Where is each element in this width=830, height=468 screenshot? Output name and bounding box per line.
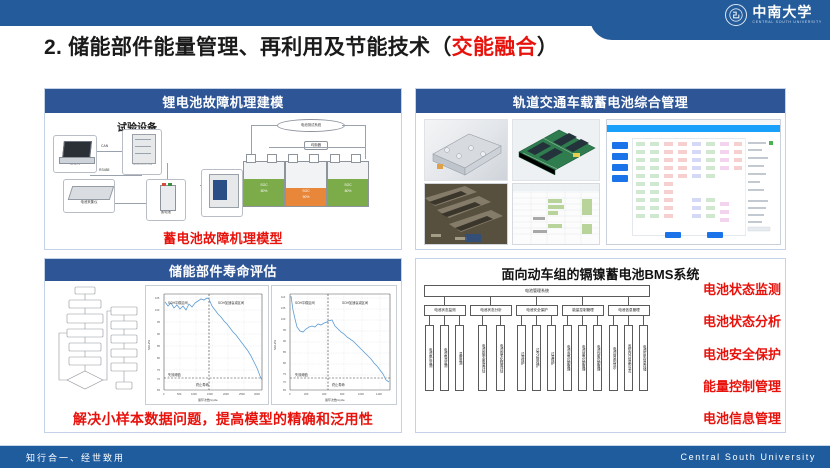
cell-status-grid [632, 138, 746, 236]
svg-text:SOH平稳区间: SOH平稳区间 [168, 300, 188, 305]
data-acquisition-label: 电池采集仪 [81, 201, 98, 205]
bms-leaf-2-2: 过温保护 [547, 325, 556, 391]
svg-text:200: 200 [304, 392, 309, 396]
bms-branch-2: 电池安全保护 [516, 305, 558, 316]
slide-title: 2. 储能部件能量管理、再利用及节能技术（交能融合） [44, 31, 558, 61]
tree-leafline-4-1 [628, 316, 629, 325]
footer-university-name: Central South University [681, 452, 816, 462]
bms-leaf-3-2-label: 电池均衡控制管理 [596, 345, 599, 371]
svg-text:失效阈值: 失效阈值 [295, 372, 309, 377]
panel-bl-title: 储能部件寿命评估 [45, 259, 401, 281]
bms-feature-1: 电池状态分析 [661, 315, 781, 328]
svg-text:SOH加速衰减区间: SOH加速衰减区间 [218, 300, 244, 305]
soh-chart-1: SOH平稳区间 SOH加速衰减区间 失效阈值 终止寿命 10510095 908… [145, 285, 269, 405]
university-name-cn: 中南大学 [752, 5, 822, 19]
soc-wire-left-top [251, 125, 278, 126]
slide-title-tail: ） [537, 36, 558, 59]
app-nav-button-0[interactable] [612, 142, 628, 149]
soc-system-label: 电池测试系统 [301, 124, 321, 128]
app-nav-button-3[interactable] [612, 175, 628, 182]
tester-shelf-1 [135, 139, 151, 140]
tree-leafline-3-1 [582, 316, 583, 325]
bms-leaf-4-1-label: 系统内外信息的交互 [627, 344, 630, 373]
soc-cell-2: SOC 50% [285, 161, 327, 207]
slide-title-highlight: 交能融合 [452, 36, 537, 59]
soc-cell-1-terminal-b [267, 154, 277, 163]
panel-tl-body: 试验设备 上位机 电池测试系统 电池采集仪 [45, 113, 401, 249]
tree-leafline-3-0 [567, 316, 568, 325]
bms-leaf-2-2-label: 过温保护 [550, 352, 553, 365]
page-header: 中南大学 CENTRAL SOUTH UNIVERSITY [0, 0, 830, 34]
app-cancel-button[interactable] [707, 232, 723, 238]
soc-wire-bus [269, 147, 365, 148]
slide-title-main: 2. 储能部件能量管理、再利用及节能技术（ [44, 36, 452, 59]
bms-leaf-4-0: 电池信息的显示 [609, 325, 618, 391]
bms-leaf-3-0-label: 电池充电控制管理 [566, 345, 569, 371]
university-name-en: CENTRAL SOUTH UNIVERSITY [752, 21, 822, 25]
svg-text:600: 600 [340, 392, 345, 396]
university-emblem-icon [725, 4, 747, 26]
app-window-ribbon [607, 125, 780, 132]
bms-branch-2-label: 电池安全保护 [526, 309, 548, 313]
bms-leaf-4-2: 电池历史信息存储 [639, 325, 648, 391]
tree-connector-3 [582, 297, 583, 305]
app-nav-button-1[interactable] [612, 153, 628, 160]
bms-leaf-2-1-label: 过充过放保护 [535, 348, 538, 367]
svg-text:100: 100 [281, 317, 286, 321]
footer-motto: 知行合一、经世致用 [26, 451, 125, 464]
tester-shelf-3 [135, 153, 151, 154]
bms-tree-root: 电池管理系统 [424, 285, 650, 297]
bms-leaf-1-1: 电池的老化程度评估 [496, 325, 505, 391]
bms-leaf-4-0-label: 电池信息的显示 [612, 347, 615, 369]
svg-text:终止寿命: 终止寿命 [332, 382, 346, 387]
panel-tl-caption: 蓄电池故障机理模型 [45, 228, 401, 247]
soc-cell-1: SOC 80% [243, 161, 285, 207]
tree-leafline-4-2 [643, 316, 644, 325]
bms-branch-0-label: 电池状态监测 [434, 309, 456, 313]
tree-connector-0 [444, 297, 445, 305]
svg-text:SOH平稳区间: SOH平稳区间 [295, 300, 315, 305]
university-logo-text: 中南大学 CENTRAL SOUTH UNIVERSITY [752, 5, 822, 25]
battery-terminal-negative-icon [168, 183, 172, 186]
battery-box-cad-image [424, 119, 508, 181]
panel-tl-title: 锂电池故障机理建模 [45, 89, 401, 113]
bms-tree-root-label: 电池管理系统 [525, 289, 549, 293]
svg-text:SOH/%: SOH/% [147, 340, 151, 350]
soc-cell-3-terminal-b [351, 154, 361, 163]
bms-leaf-0-2: 温度监测 [455, 325, 464, 391]
svg-text:循环次数/cycle: 循环次数/cycle [325, 397, 345, 402]
panel-bl-body: SOH平稳区间 SOH加速衰减区间 失效阈值 终止寿命 10510095 908… [45, 281, 401, 432]
svg-text:2500: 2500 [239, 392, 245, 396]
svg-text:终止寿命: 终止寿命 [196, 382, 210, 387]
bms-leaf-4-1: 系统内外信息的交互 [624, 325, 633, 391]
soc-system-oval: 电池测试系统 [277, 119, 345, 132]
bms-feature-3: 能量控制管理 [661, 380, 781, 393]
soh-chart-2: SOH平稳区间 SOH加速衰减区间 失效阈值 终止寿命 110105100 95… [271, 285, 397, 405]
svg-text:2000: 2000 [223, 392, 229, 396]
bms-leaf-2-1: 过充过放保护 [532, 325, 541, 391]
soc-cell-1-terminal-a [246, 154, 256, 163]
bus-label-rs485: RS485 [99, 169, 109, 173]
thermal-chamber-node: 可编程恒温箱 [201, 169, 243, 217]
bms-leaf-3-1: 电池放电控制管理 [578, 325, 587, 391]
data-acquisition-node: 电池采集仪 [63, 179, 115, 213]
svg-text:失效阈值: 失效阈值 [168, 372, 182, 377]
bms-feature-2: 电池安全保护 [661, 348, 781, 361]
bms-leaf-3-0: 电池充电控制管理 [563, 325, 572, 391]
tree-leafline-0-1 [444, 316, 445, 325]
soc-cell-1-value: 80% [244, 190, 284, 194]
soc-cell-2-value: 50% [286, 196, 326, 200]
tree-leafline-3-2 [597, 316, 598, 325]
app-nav-button-2[interactable] [612, 164, 628, 171]
bus-label-can: CAN [101, 145, 108, 149]
bms-branch-4: 电池信息管理 [608, 305, 650, 316]
tree-connector-4 [628, 297, 629, 305]
bms-leaf-0-2-label: 温度监测 [458, 352, 461, 365]
tree-connector-1 [490, 297, 491, 305]
soc-cell-1-label: SOC [244, 184, 284, 188]
chamber-window-icon [213, 180, 227, 200]
daq-device-icon [68, 186, 115, 200]
bms-leaf-3-1-label: 电池放电控制管理 [581, 345, 584, 371]
bms-leaf-1-0: 电池的剩余电量评估 [478, 325, 487, 391]
bms-leaf-2-0: 过流保护 [517, 325, 526, 391]
panel-bl-caption: 解决小样本数据问题，提高模型的精确和泛用性 [45, 409, 401, 429]
panel-tr-title: 轨道交通车载蓄电池综合管理 [416, 89, 785, 113]
svg-text:105: 105 [281, 306, 286, 310]
app-confirm-button[interactable] [665, 232, 681, 238]
soc-cell-2-label: SOC [286, 190, 326, 194]
soc-cell-3: SOC 80% [327, 161, 369, 207]
svg-text:100: 100 [155, 308, 160, 312]
bms-leaf-0-1-label: 电池电流监测 [443, 348, 446, 367]
bms-branch-1-label: 电池状态分析 [480, 309, 502, 313]
panel-tr-body [416, 113, 785, 249]
soc-cell-3-label: SOC [328, 184, 368, 188]
tree-leafline-2-2 [551, 316, 552, 325]
tree-leafline-1-0 [482, 316, 483, 325]
app-detail-pane [745, 138, 776, 234]
storage-battery-node: 蓄电池 [146, 179, 186, 221]
svg-text:1400: 1400 [376, 392, 382, 396]
battery-test-system-node: 电池测试系统 [122, 129, 162, 175]
tree-leafline-2-0 [521, 316, 522, 325]
battery-body-icon [160, 185, 176, 211]
tester-shelf-2 [135, 146, 151, 147]
svg-text:SOH/%: SOH/% [273, 340, 277, 350]
host-computer-node: 上位机 [53, 135, 97, 173]
soc-cell-2-terminal-b [309, 154, 319, 163]
tree-leafline-2-1 [536, 316, 537, 325]
bms-branch-3: 能量控制管理 [562, 305, 604, 316]
wire-pc-to-daq [90, 175, 142, 176]
svg-text:1000: 1000 [358, 392, 364, 396]
life-assessment-flowchart [53, 285, 141, 403]
bms-leaf-4-2-label: 电池历史信息存储 [642, 345, 645, 371]
bms-leaf-0-0-label: 电池电压监测 [428, 348, 431, 367]
panel-storage-life-assessment: 储能部件寿命评估 [44, 258, 402, 433]
bms-feature-list: 电池状态监测 电池状态分析 电池安全保护 能量控制管理 电池信息管理 [661, 283, 781, 425]
svg-text:SOH加速衰减区间: SOH加速衰减区间 [342, 300, 368, 305]
panel-bms-system: 面向动车组的镉镍蓄电池BMS系统 电池管理系统 电池状态监测 电池状态分析 电池… [415, 258, 786, 433]
tree-leafline-1-1 [500, 316, 501, 325]
soc-cell-3-value: 80% [328, 190, 368, 194]
bms-leaf-1-1-label: 电池的老化程度评估 [499, 344, 502, 373]
svg-text:110: 110 [281, 295, 286, 299]
panel-lithium-fault-modeling: 锂电池故障机理建模 试验设备 上位机 电池测试系统 电池采集仪 [44, 88, 402, 250]
battery-terminal-positive-icon [162, 183, 166, 186]
panel-rail-transit-battery-management: 轨道交通车载蓄电池综合管理 [415, 88, 786, 250]
test-data-sheet-image [512, 183, 600, 245]
panel-br-title: 面向动车组的镉镍蓄电池BMS系统 [416, 264, 785, 283]
tree-connector-2 [536, 297, 537, 305]
bms-leaf-0-1: 电池电流监测 [440, 325, 449, 391]
bms-branch-1: 电池状态分析 [470, 305, 512, 316]
svg-text:105: 105 [155, 296, 160, 300]
battery-rack-photo-image [424, 183, 508, 245]
soc-cell-2-terminal-a [288, 154, 298, 163]
balancer-node: 均衡器 [304, 141, 328, 150]
bms-leaf-1-0-label: 电池的剩余电量评估 [481, 344, 484, 373]
tree-leafline-4-0 [613, 316, 614, 325]
bms-tree-diagram: 电池管理系统 电池状态监测 电池状态分析 电池安全保护 能量控制管理 电池信息管 [422, 285, 652, 423]
soc-wire-right [365, 125, 366, 159]
battery-tray-pcb-cad-image [512, 119, 600, 181]
soc-wire-right-top [342, 125, 366, 126]
bms-feature-0: 电池状态监测 [661, 283, 781, 296]
svg-text:3000: 3000 [254, 392, 260, 396]
bms-branch-4-label: 电池信息管理 [618, 309, 640, 313]
panel-br-body: 面向动车组的镉镍蓄电池BMS系统 电池管理系统 电池状态监测 电池状态分析 电池… [416, 259, 785, 432]
svg-text:500: 500 [177, 392, 182, 396]
svg-text:1500: 1500 [207, 392, 213, 396]
laptop-base-icon [59, 157, 95, 164]
page-footer: 知行合一、经世致用 Central South University [0, 446, 830, 468]
bms-branch-0: 电池状态监测 [424, 305, 466, 316]
svg-text:循环次数/cycle: 循环次数/cycle [198, 397, 218, 402]
svg-text:1000: 1000 [191, 392, 197, 396]
bms-branch-3-label: 能量控制管理 [572, 309, 594, 313]
svg-text:400: 400 [322, 392, 327, 396]
tree-leafline-0-0 [429, 316, 430, 325]
bms-feature-4: 电池信息管理 [661, 412, 781, 425]
tree-leafline-0-2 [459, 316, 460, 325]
bms-leaf-3-2: 电池均衡控制管理 [593, 325, 602, 391]
bms-leaf-2-0-label: 过流保护 [520, 352, 523, 365]
storage-battery-label: 蓄电池 [161, 211, 171, 215]
soc-cell-3-terminal-a [330, 154, 340, 163]
university-logo: 中南大学 CENTRAL SOUTH UNIVERSITY [725, 2, 822, 28]
bms-leaf-0-0: 电池电压监测 [425, 325, 434, 391]
bms-monitor-app-window[interactable] [606, 119, 781, 245]
